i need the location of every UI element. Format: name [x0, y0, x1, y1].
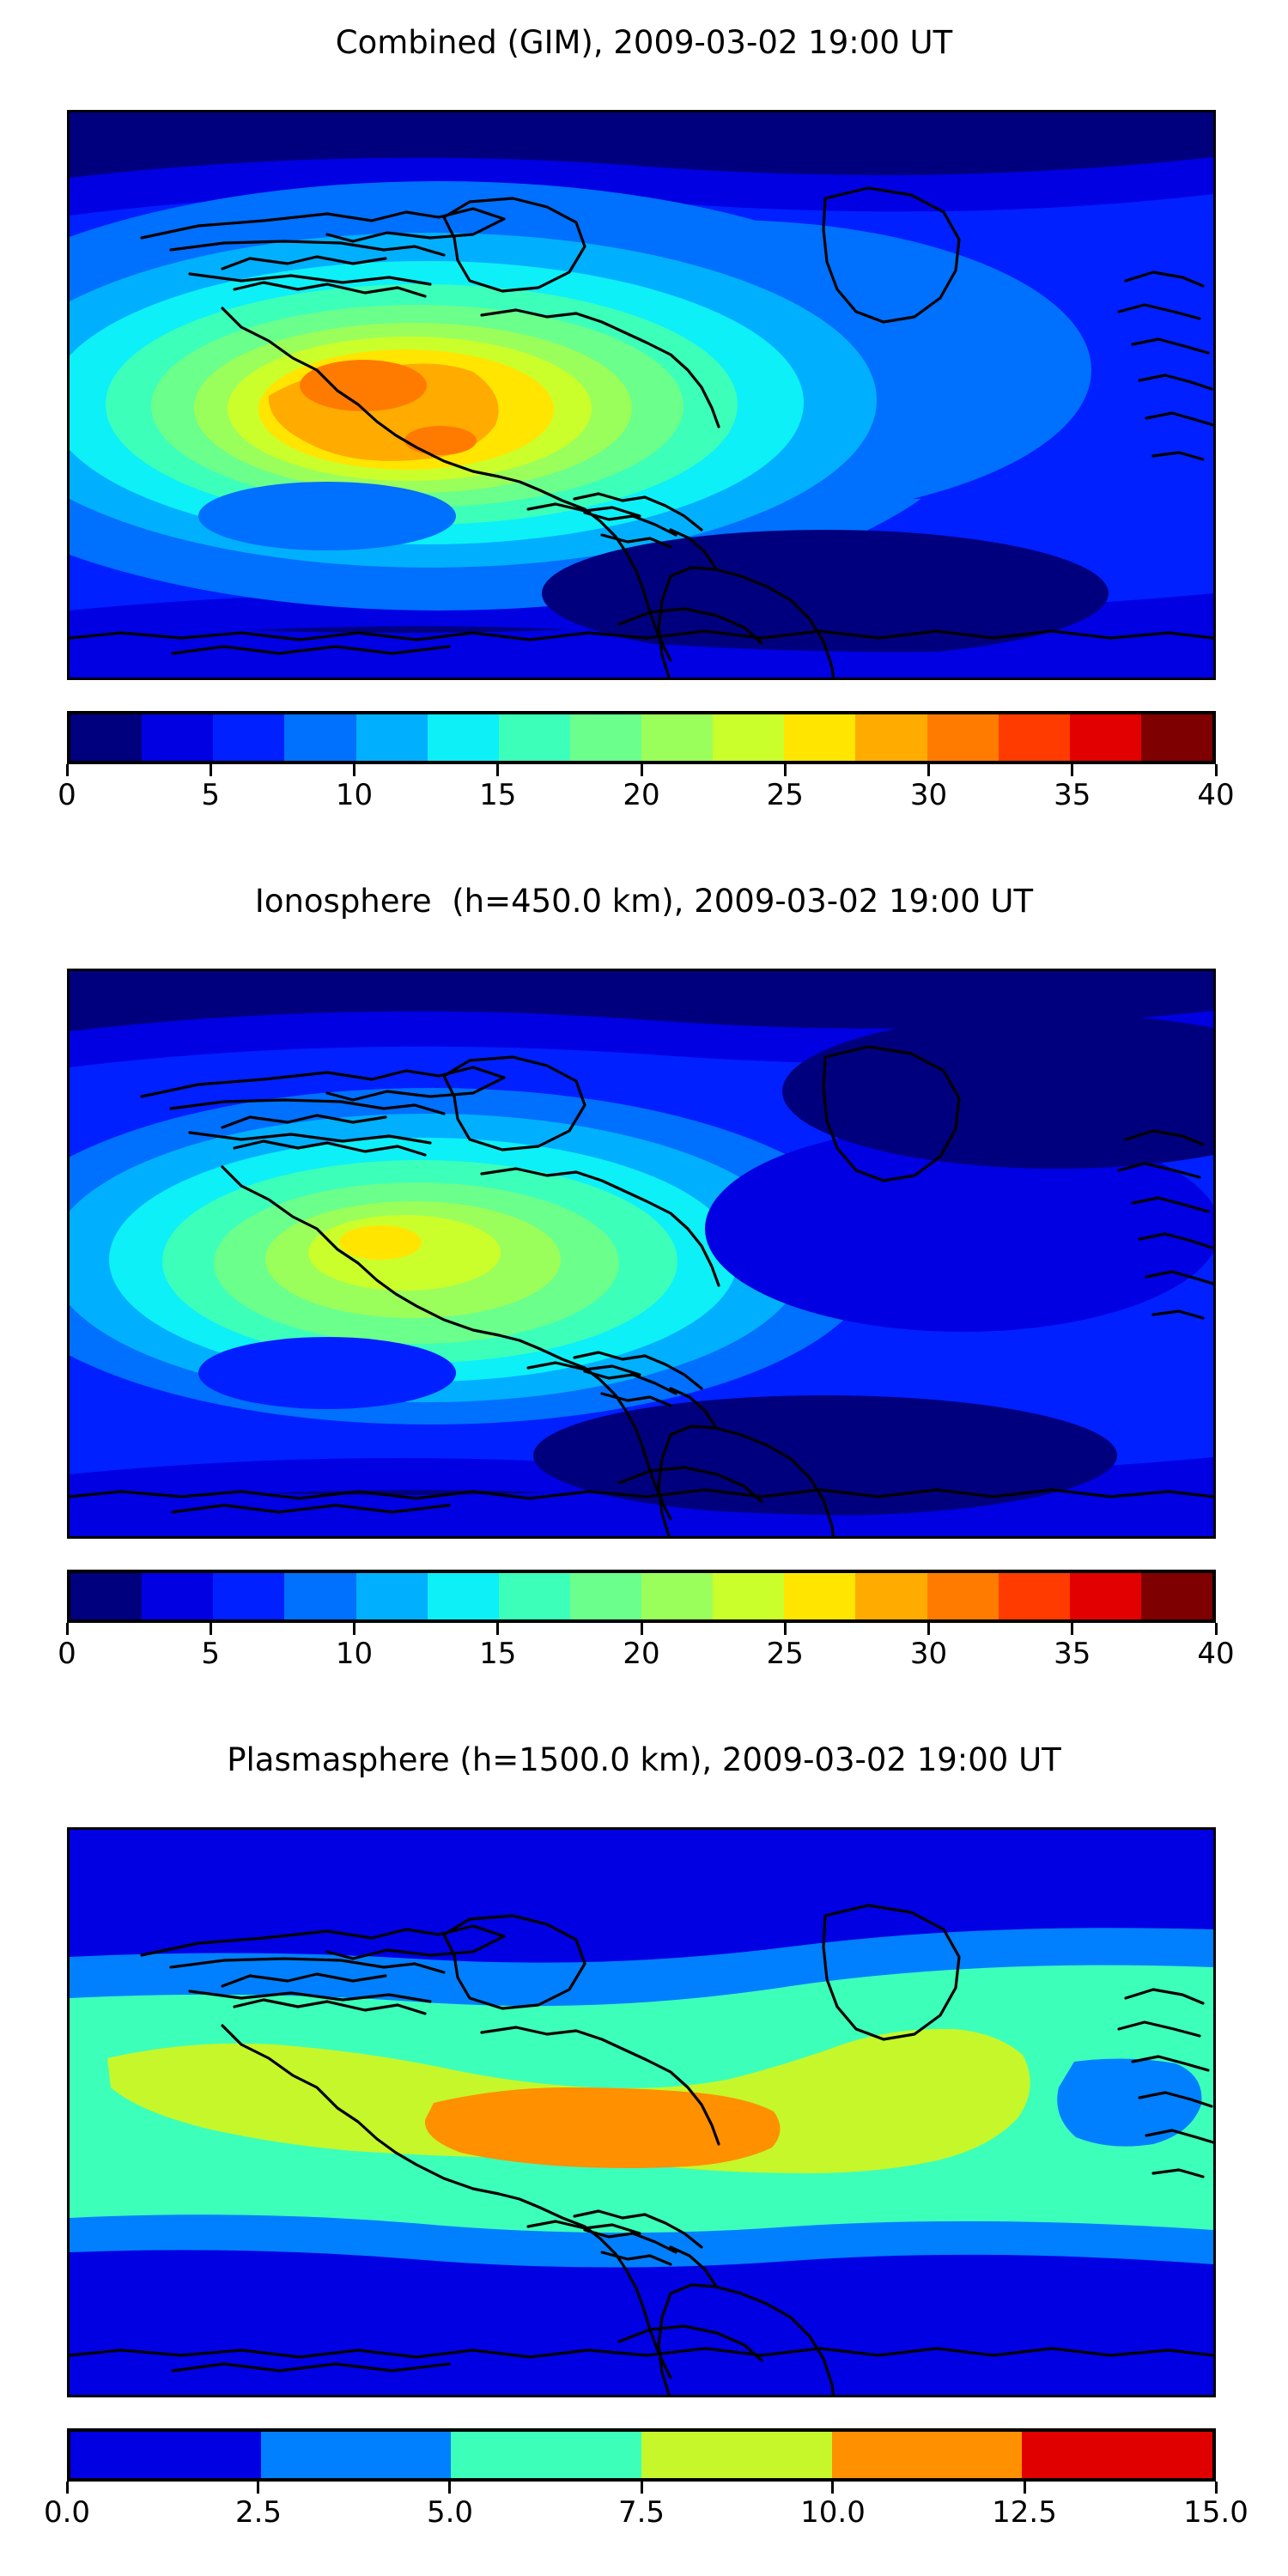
colorbar-tick — [641, 2482, 643, 2494]
colorbar-tick-label: 5 — [201, 1637, 220, 1671]
colorbar-band — [70, 714, 142, 761]
colorbar-tick — [448, 2482, 451, 2494]
colorbar-band — [927, 1573, 999, 1619]
colorbar-tick-label: 5.0 — [427, 2495, 473, 2530]
colorbar-band — [356, 1573, 428, 1619]
colorbar-band — [499, 1573, 570, 1619]
colorbar-tick — [257, 2482, 259, 2494]
panel-title-combined: Combined (GIM), 2009-03-02 19:00 UT — [0, 24, 1288, 61]
colorbar-tick-label: 40 — [1197, 778, 1234, 812]
colorbar-tick — [927, 1623, 930, 1635]
colorbar-tick-label: 10.0 — [800, 2495, 866, 2530]
colorbar-band — [641, 2432, 832, 2478]
map-canvas-combined — [70, 112, 1213, 677]
colorbar-band — [451, 2432, 641, 2478]
colorbar-tick-label: 20 — [623, 1637, 659, 1671]
colorbar-band — [428, 714, 499, 761]
colorbar-tick-label: 25 — [767, 1637, 804, 1671]
colorbar-band — [1070, 1573, 1141, 1619]
colorbar-ionosphere: 0510152025303540 — [67, 1570, 1216, 1674]
colorbar-tick-label: 40 — [1197, 1637, 1234, 1671]
map-combined-gim — [67, 110, 1216, 680]
colorbar-band — [1141, 714, 1212, 761]
colorbar-tick — [1215, 764, 1218, 776]
colorbar-band — [927, 714, 999, 761]
map-plasmasphere — [67, 1827, 1216, 2397]
colorbar-tick — [1215, 2482, 1218, 2494]
colorbar-tick — [66, 1623, 69, 1635]
colorbar-tick — [210, 764, 212, 776]
colorbar-tick-label: 10 — [336, 778, 373, 812]
panel-title-plasmasphere: Plasmasphere (h=1500.0 km), 2009-03-02 1… — [0, 1741, 1288, 1778]
colorbar-ticks-combined — [67, 764, 1216, 776]
colorbar-tick-label: 2.5 — [235, 2495, 282, 2530]
colorbar-band — [713, 1573, 784, 1619]
colorbar-tick-label: 0 — [58, 1637, 76, 1671]
colorbar-tick-label: 12.5 — [992, 2495, 1057, 2530]
colorbar-band — [855, 1573, 927, 1619]
colorbar-band — [832, 2432, 1023, 2478]
colorbar-labels-plasmasphere: 0.02.55.07.510.012.515.0 — [67, 2494, 1216, 2533]
colorbar-band — [1070, 714, 1141, 761]
colorbar-tick-label: 0 — [58, 778, 76, 812]
colorbar-tick — [66, 764, 69, 776]
map-canvas-plasmasphere — [70, 1830, 1213, 2395]
colorbar-ticks-plasmasphere — [67, 2482, 1216, 2494]
map-ionosphere — [67, 969, 1216, 1539]
colorbar-tick — [831, 2482, 834, 2494]
colorbar-tick-label: 25 — [767, 778, 804, 812]
colorbar-band — [499, 714, 570, 761]
colorbar-band — [570, 714, 641, 761]
colorbar-band — [641, 1573, 713, 1619]
colorbar-tick-label: 7.5 — [618, 2495, 665, 2530]
panel-plasmasphere: Plasmasphere (h=1500.0 km), 2009-03-02 1… — [0, 1717, 1288, 2576]
colorbar-tick-label: 15 — [479, 1637, 516, 1671]
colorbar-tick — [927, 764, 930, 776]
colorbar-tick — [784, 1623, 787, 1635]
colorbar-band — [284, 1573, 355, 1619]
colorbar-labels-ionosphere: 0510152025303540 — [67, 1635, 1216, 1674]
colorbar-tick — [1024, 2482, 1026, 2494]
colorbar-tick — [1071, 1623, 1073, 1635]
colorbar-tick — [496, 1623, 499, 1635]
colorbar-tick — [641, 764, 643, 776]
colorbar-tick — [1215, 1623, 1218, 1635]
panel-title-ionosphere: Ionosphere (h=450.0 km), 2009-03-02 19:0… — [0, 883, 1288, 920]
colorbar-tick — [353, 1623, 355, 1635]
colorbar-tick-label: 35 — [1054, 778, 1091, 812]
colorbar-tick — [641, 1623, 643, 1635]
colorbar-band — [213, 1573, 284, 1619]
colorbar-band — [70, 1573, 142, 1619]
colorbar-combined: 0510152025303540 — [67, 711, 1216, 816]
colorbar-tick-label: 20 — [623, 778, 659, 812]
colorbar-tick-label: 15 — [479, 778, 516, 812]
colorbar-band — [213, 714, 284, 761]
colorbar-gradient-plasmasphere — [67, 2428, 1216, 2482]
colorbar-band — [142, 1573, 213, 1619]
panel-ionosphere: Ionosphere (h=450.0 km), 2009-03-02 19:0… — [0, 859, 1288, 1717]
colorbar-tick-label: 30 — [910, 1637, 947, 1671]
colorbar-band — [284, 714, 355, 761]
colorbar-ticks-ionosphere — [67, 1623, 1216, 1635]
colorbar-band — [784, 714, 855, 761]
colorbar-tick-label: 10 — [336, 1637, 373, 1671]
colorbar-band — [356, 714, 428, 761]
colorbar-tick — [784, 764, 787, 776]
panel-combined-gim: Combined (GIM), 2009-03-02 19:00 UT — [0, 0, 1288, 859]
colorbar-plasmasphere: 0.02.55.07.510.012.515.0 — [67, 2428, 1216, 2533]
colorbar-tick — [1071, 764, 1073, 776]
colorbar-tick — [210, 1623, 212, 1635]
colorbar-gradient-ionosphere — [67, 1570, 1216, 1623]
colorbar-band — [1141, 1573, 1212, 1619]
colorbar-band — [261, 2432, 452, 2478]
colorbar-gradient-combined — [67, 711, 1216, 764]
colorbar-tick-label: 35 — [1054, 1637, 1091, 1671]
colorbar-tick-label: 5 — [201, 778, 220, 812]
colorbar-band — [641, 714, 713, 761]
colorbar-band — [855, 714, 927, 761]
map-canvas-ionosphere — [70, 971, 1213, 1536]
colorbar-labels-combined: 0510152025303540 — [67, 776, 1216, 816]
colorbar-tick-label: 30 — [910, 778, 947, 812]
colorbar-band — [784, 1573, 855, 1619]
colorbar-tick-label: 0.0 — [44, 2495, 90, 2530]
colorbar-tick — [496, 764, 499, 776]
colorbar-band — [999, 1573, 1070, 1619]
tec-map-figure: Combined (GIM), 2009-03-02 19:00 UT — [0, 0, 1288, 2576]
colorbar-tick-label: 15.0 — [1183, 2495, 1249, 2530]
colorbar-tick — [66, 2482, 69, 2494]
colorbar-band — [142, 714, 213, 761]
colorbar-band — [999, 714, 1070, 761]
colorbar-tick — [353, 764, 355, 776]
colorbar-band — [1022, 2432, 1212, 2478]
colorbar-band — [428, 1573, 499, 1619]
colorbar-band — [70, 2432, 261, 2478]
colorbar-band — [713, 714, 784, 761]
colorbar-band — [570, 1573, 641, 1619]
